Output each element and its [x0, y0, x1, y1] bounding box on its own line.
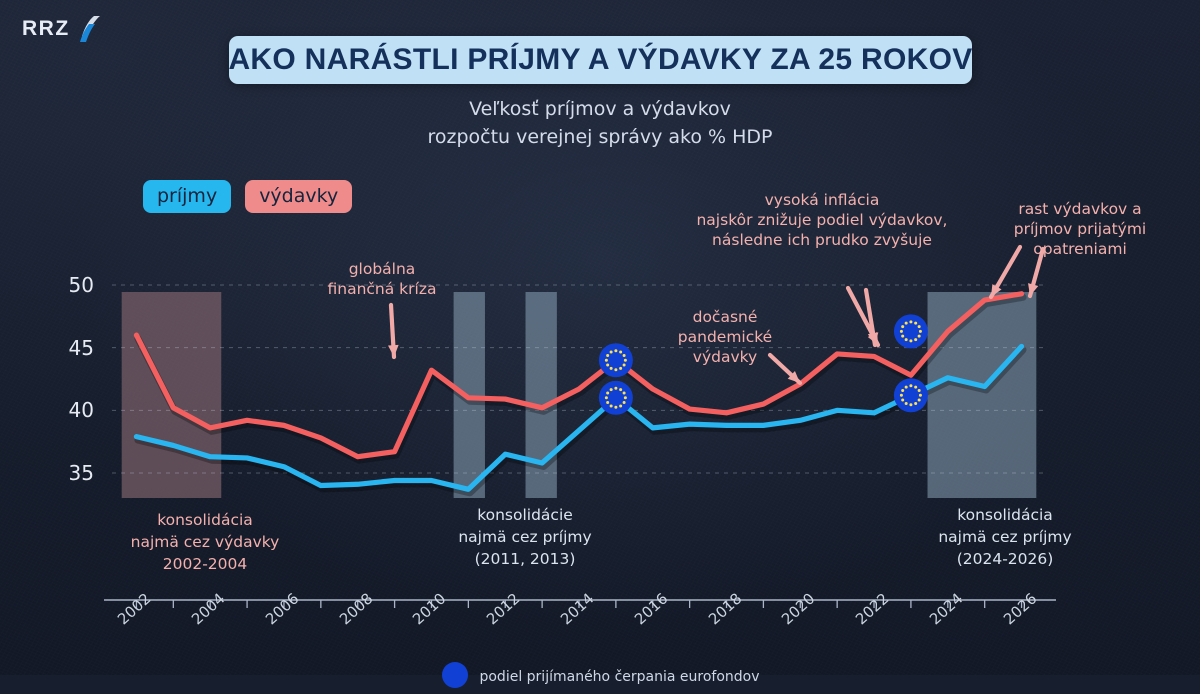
annotation-high-inflation: vysoká inflácia najskôr znižuje podiel v…: [672, 190, 972, 250]
band-consolidation-2024-2026: [928, 292, 1037, 498]
eu-flag-marker-2015-výdavky[interactable]: [599, 343, 633, 377]
band-label-consolidation-2002-2004: konsolidácia najmä cez výdavky 2002-2004: [80, 509, 330, 575]
band-label-consolidation-2024-2026: konsolidácia najmä cez príjmy (2024-2026…: [885, 504, 1125, 570]
band-consolidation-2002-2004: [122, 292, 222, 498]
eu-flag-marker-2023-príjmy[interactable]: [894, 378, 928, 412]
annotation-temporary-pandemic-spending: dočasné pandemické výdavky: [660, 307, 790, 367]
annotation-growth-by-measures: rast výdavkov a príjmov prijatými opatre…: [985, 199, 1175, 259]
annotation-global-financial-crisis: globálna finančná kríza: [297, 259, 467, 299]
footer-note-text: podiel prijímaného čerpania eurofondov: [479, 669, 759, 685]
eu-flag-marker-2023-výdavky[interactable]: [894, 314, 928, 348]
eu-flag-icon: [440, 660, 470, 694]
band-label-consolidation-2011-2013: konsolidácie najmä cez príjmy (2011, 201…: [405, 504, 645, 570]
y-tick-label-35: 35: [69, 461, 94, 485]
eu-flag-marker-2015-príjmy[interactable]: [599, 381, 633, 415]
arrow-global-financial-crisis: [388, 305, 399, 357]
footer-note: podiel prijímaného čerpania eurofondov: [0, 660, 1200, 694]
arrow-high-inflation-2: [866, 290, 878, 345]
y-tick-label-45: 45: [69, 336, 94, 360]
y-tick-label-40: 40: [69, 398, 94, 422]
y-tick-label-50: 50: [69, 273, 94, 297]
